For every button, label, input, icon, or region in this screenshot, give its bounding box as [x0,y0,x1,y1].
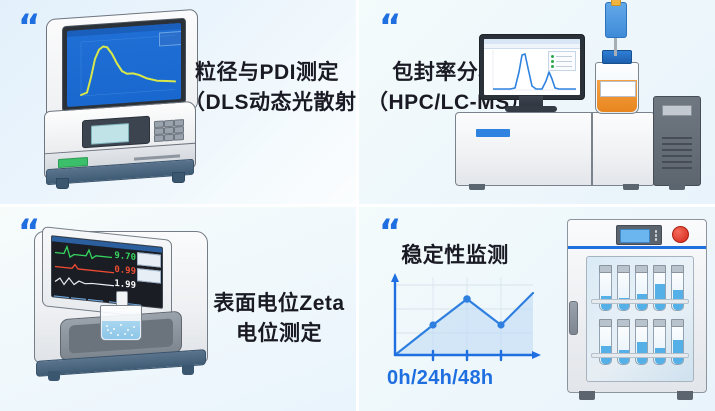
incubator-door-handle[interactable] [569,301,578,335]
chart-y-arrow [391,273,399,282]
hplc-foot-right [623,184,639,190]
hplc-front-button[interactable] [476,129,510,137]
incubator-foot-right [677,391,693,400]
hplc-tower-slot [662,105,692,116]
hplc-foot-left [469,184,485,190]
panel-zeta-potential: “ 9.70 0.99 1.99 [0,207,356,411]
incubator-shelf-top [591,299,689,304]
zeta-sample-liquid [102,321,140,339]
panel-stability-monitoring: “ 稳定性监测 [359,207,715,411]
chart-point-48h [463,295,471,303]
caption-zeta-potential: 表面电位Zeta 电位测定 [206,289,352,349]
tube [671,269,684,311]
tube [653,269,666,311]
zeta-sample-beaker [100,305,142,341]
syringe-body [605,2,627,38]
zeta-foot-left [48,371,60,381]
zeta-screen: 9.70 0.99 1.99 [51,235,163,309]
stability-line-chart [381,263,541,373]
zeta-softkey-1[interactable] [137,252,161,268]
stability-chart-svg [381,263,541,373]
tube [599,323,612,365]
incubator-shelf-bottom [591,353,689,358]
chart-point-24h [429,321,436,328]
dls-foot-left [56,178,69,189]
caption-line-2: （DLS动态光散射） [184,88,350,118]
zeta-reading-2: 0.99 [114,265,136,277]
tube [671,323,684,365]
tube [635,269,648,311]
incubator-glass-door[interactable] [586,256,694,382]
incubator-cabinet [567,219,707,393]
incubator-display [620,229,650,243]
zeta-reading-1: 9.70 [114,251,136,263]
tube [653,323,666,365]
zeta-fkey-1 [54,295,69,303]
zeta-wave-white [55,277,114,290]
chart-x-arrow [532,351,541,359]
zeta-foot-right [182,365,194,375]
stability-incubator-illustration [565,215,711,405]
zeta-analyzer-illustration: 9.70 0.99 1.99 [24,219,224,401]
chart-point-72h [497,321,504,328]
dls-lcd [91,123,129,145]
incubator-power-button[interactable] [672,226,689,243]
sample-bottle-cap [602,50,632,64]
zeta-softkey-2[interactable] [137,268,161,284]
hplc-detector-tower [653,96,701,186]
panel-particle-size-pdi: “ [0,0,356,204]
dls-screen-frame [62,18,186,113]
tube [599,269,612,311]
zeta-reading-3: 1.99 [114,279,136,291]
dls-screen [67,23,181,107]
dls-size-distribution-plot [67,23,181,107]
dls-curve [81,41,175,95]
zeta-softkey-column[interactable] [137,252,159,284]
dls-keypad[interactable] [154,119,186,145]
incubator-foot-left [579,391,595,400]
panel-encapsulation-efficiency: “ 包封率分析 （HPC/LC-MS） [359,0,715,204]
tube [617,269,630,311]
caption-line-1: 表面电位Zeta [206,289,352,319]
incubator-accent-stripe [568,246,706,249]
chart-x-axis-label: 0h/24h/48h [387,367,493,390]
hplc-monitor [479,34,585,100]
tube [617,323,630,365]
dls-foot-right [172,172,185,183]
incubator-control-panel[interactable] [616,225,662,245]
hplc-lcms-illustration [447,4,707,200]
caption-particle-size-pdi: 粒径与PDI测定 （DLS动态光散射） [184,58,350,118]
tube [635,323,648,365]
zeta-wave-red [55,263,114,273]
sample-bottle [595,62,639,114]
hplc-foot-tower [669,184,685,190]
syringe-plunger[interactable] [611,0,621,6]
hplc-monitor-screen [484,39,580,95]
dls-control-panel[interactable] [82,116,150,149]
zeta-fkey-2 [71,297,86,305]
caption-line-2: 电位测定 [206,319,352,349]
hplc-chassis [455,112,655,186]
hplc-legend-box [548,51,576,71]
zeta-wave-green [55,246,112,262]
sample-bottle-label [600,81,636,97]
caption-line-1: 粒径与PDI测定 [184,58,350,88]
feature-grid: “ [0,0,715,411]
quote-icon: “ [379,10,399,44]
